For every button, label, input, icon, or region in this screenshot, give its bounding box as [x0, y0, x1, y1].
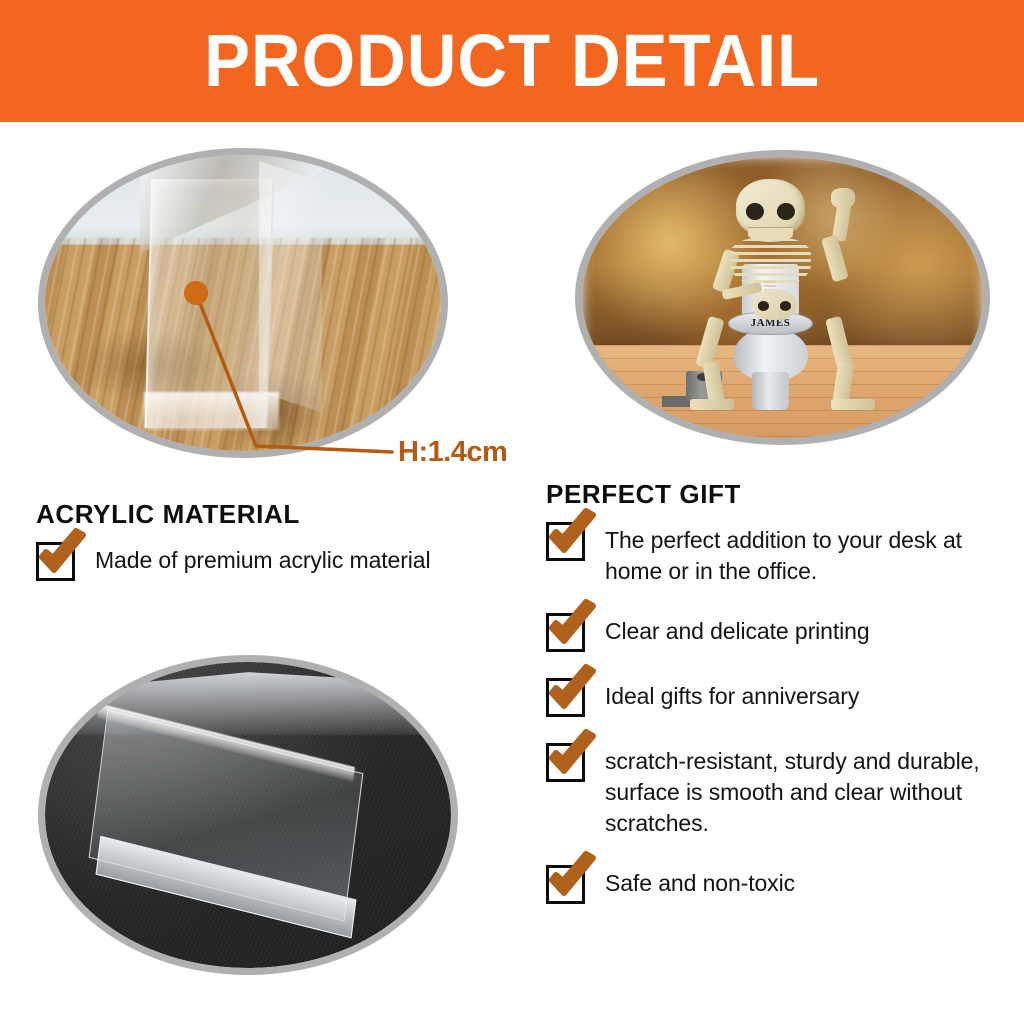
feature-text: Ideal gifts for anniversary [605, 674, 859, 712]
checkbox-checked-icon [546, 865, 585, 904]
feature-item: Safe and non-toxic [546, 861, 1006, 904]
dimension-callout-label: H:1.4cm [398, 436, 507, 469]
acrylic-block-photo-image [45, 662, 451, 968]
page-title: PRODUCT DETAIL [204, 24, 820, 98]
checkbox-checked-icon [546, 522, 585, 561]
feature-list-acrylic-material: Made of premium acrylic material [36, 538, 516, 599]
acrylic-side-face [259, 161, 322, 412]
feature-list-perfect-gift: The perfect addition to your desk at hom… [546, 518, 1006, 926]
acrylic-edge-photo-image [45, 155, 441, 451]
section-heading-perfect-gift: PERFECT GIFT [546, 479, 741, 510]
section-heading-acrylic-material: ACRYLIC MATERIAL [36, 499, 300, 530]
toilet-pedestal [752, 372, 789, 410]
feature-item: Ideal gifts for anniversary [546, 674, 1006, 717]
feature-text: Made of premium acrylic material [95, 538, 431, 576]
skeleton-ribcage [730, 238, 810, 286]
skeleton-foot-left [690, 399, 734, 410]
skeleton-held-skull [752, 289, 796, 320]
feature-item: The perfect addition to your desk at hom… [546, 518, 1006, 587]
skeleton-foot-right [831, 399, 875, 410]
skeleton-toilet-photo: JAMES [575, 150, 990, 445]
skeleton-hand-right [831, 188, 855, 208]
acrylic-front-face [145, 179, 274, 428]
feature-item: Clear and delicate printing [546, 609, 1006, 652]
feature-text: scratch-resistant, sturdy and durable, s… [605, 739, 1006, 839]
header-banner: PRODUCT DETAIL [0, 0, 1024, 122]
checkbox-checked-icon [546, 613, 585, 652]
feature-text: Safe and non-toxic [605, 861, 795, 899]
checkbox-checked-icon [546, 678, 585, 717]
feature-item: scratch-resistant, sturdy and durable, s… [546, 739, 1006, 839]
feature-text: Clear and delicate printing [605, 609, 870, 647]
feature-text: The perfect addition to your desk at hom… [605, 518, 1006, 587]
feature-item: Made of premium acrylic material [36, 538, 516, 581]
skeleton-toilet-photo-image: JAMES [582, 157, 983, 438]
checkbox-checked-icon [36, 542, 75, 581]
acrylic-base-highlight [144, 392, 279, 430]
checkbox-checked-icon [546, 743, 585, 782]
acrylic-edge-photo [38, 148, 448, 458]
acrylic-block-photo [38, 655, 458, 975]
